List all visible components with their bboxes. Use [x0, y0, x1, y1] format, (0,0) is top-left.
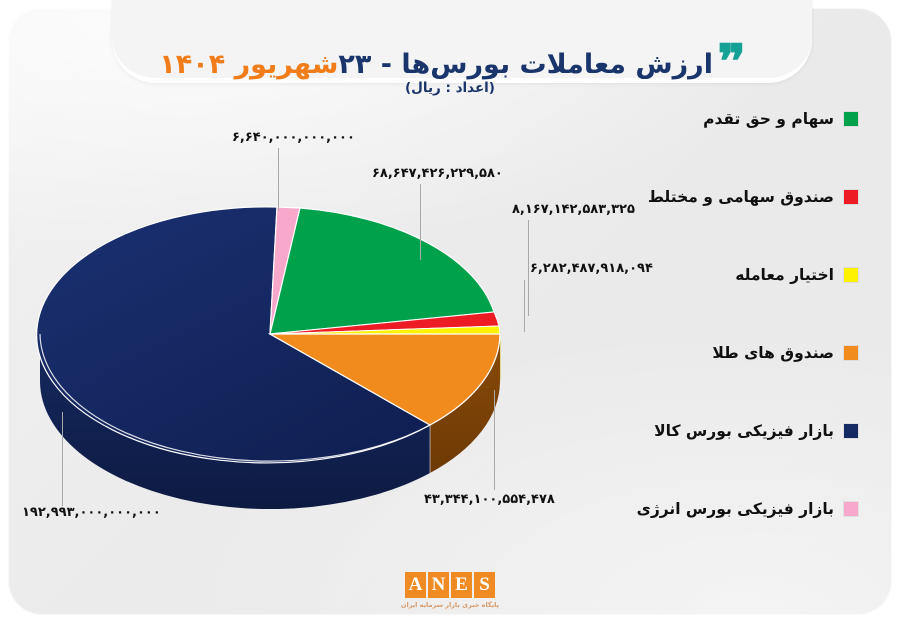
legend-swatch-icon: [844, 268, 858, 282]
legend-label: صندوق سهامی و مختلط: [648, 188, 834, 206]
legend-item-option[interactable]: اختیار معامله: [642, 264, 858, 286]
legend-label: اختیار معامله: [735, 266, 834, 284]
leader-line-equity: [420, 184, 421, 260]
legend-label: بازار فیزیکی بورس کالا: [654, 422, 834, 440]
legend-swatch-icon: [844, 112, 858, 126]
leader-line-mixed: [528, 220, 529, 316]
leader-line-commodity: [62, 412, 63, 506]
leader-line-option: [524, 280, 525, 332]
sena-letter-e: E: [451, 572, 472, 598]
data-label-gold-fund: ۴۳,۳۴۴,۱۰۰,۵۵۴,۴۷۸: [424, 492, 555, 507]
data-label-energy: ۶,۶۴۰,۰۰۰,۰۰۰,۰۰۰: [232, 130, 355, 145]
legend-item-mixed-fund[interactable]: صندوق سهامی و مختلط: [642, 186, 858, 208]
sena-wordmark: S E N A: [405, 572, 495, 598]
legend-item-energy[interactable]: بازار فیزیکی بورس انرژی: [642, 498, 858, 520]
sena-letter-a: A: [405, 572, 426, 598]
sena-tagline: پایگاه خبری بازار سرمایه ایران: [375, 601, 525, 609]
legend-swatch-icon: [844, 424, 858, 438]
title-accent-text: شهریور ۱۴۰۴: [159, 49, 338, 80]
data-label-equity: ۶۸,۶۴۷,۴۲۶,۲۲۹,۵۸۰: [372, 166, 503, 181]
infographic-page: ❞ ارزش معاملات بورس‌ها - ۲۳ شهریور ۱۴۰۴ …: [0, 0, 900, 623]
legend-label: صندوق های طلا: [712, 344, 834, 362]
sena-logo[interactable]: S E N A پایگاه خبری بازار سرمایه ایران: [375, 572, 525, 609]
data-label-mixed-fund: ۸,۱۶۷,۱۴۲,۵۸۳,۳۲۵: [512, 202, 635, 217]
legend-item-commodity[interactable]: بازار فیزیکی بورس کالا: [642, 420, 858, 442]
legend-item-equity[interactable]: سهام و حق تقدم: [642, 108, 858, 130]
legend-label: سهام و حق تقدم: [703, 110, 834, 128]
pie-chart: [0, 90, 660, 540]
legend-swatch-icon: [844, 502, 858, 516]
data-label-commodity: ۱۹۲,۹۹۳,۰۰۰,۰۰۰,۰۰۰: [22, 505, 161, 520]
leader-line-energy: [278, 148, 279, 211]
sena-letter-n: N: [428, 572, 449, 598]
sena-letter-s: S: [474, 572, 495, 598]
legend-swatch-icon: [844, 346, 858, 360]
title-main-text: ارزش معاملات بورس‌ها - ۲۳: [338, 49, 713, 80]
quote-icon: ❞: [717, 38, 742, 84]
pie-chart-svg: [0, 90, 660, 540]
legend-item-gold-fund[interactable]: صندوق های طلا: [642, 342, 858, 364]
legend-swatch-icon: [844, 190, 858, 204]
data-label-option: ۶,۲۸۲,۴۸۷,۹۱۸,۰۹۴: [530, 261, 653, 276]
page-title: ❞ ارزش معاملات بورس‌ها - ۲۳ شهریور ۱۴۰۴: [0, 44, 900, 84]
leader-line-gold: [494, 390, 495, 490]
legend-label: بازار فیزیکی بورس انرژی: [637, 500, 834, 518]
chart-legend: سهام و حق تقدم صندوق سهامی و مختلط اختیا…: [642, 108, 858, 520]
